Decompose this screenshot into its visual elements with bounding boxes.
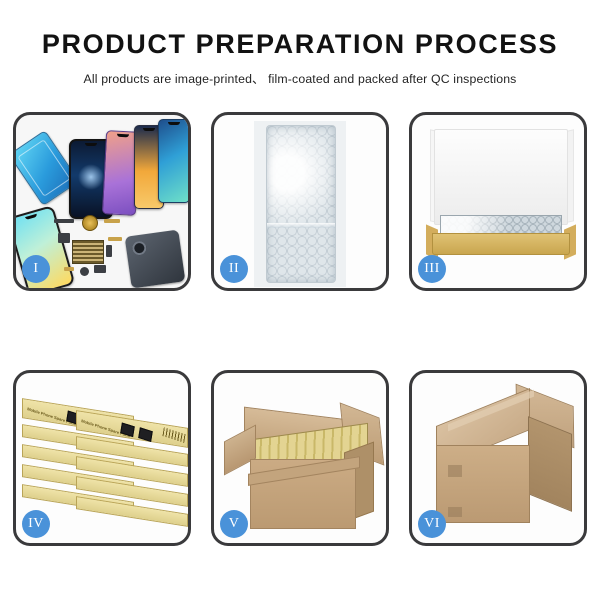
small-part-5 — [94, 265, 106, 273]
small-part-1 — [54, 219, 74, 223]
step-badge-1: I — [22, 255, 50, 283]
phone-back-housing — [125, 229, 186, 288]
step-badge-6: VI — [418, 510, 446, 538]
small-part-3 — [106, 245, 112, 257]
flex-cable-3 — [64, 267, 74, 271]
page-title: PRODUCT PREPARATION PROCESS — [0, 30, 600, 60]
step-badge-3: III — [418, 255, 446, 283]
step-badge-2: II — [220, 255, 248, 283]
mailer-front-panel — [432, 233, 570, 255]
process-steps-grid: I II III — [13, 112, 587, 546]
small-part-2 — [58, 233, 70, 243]
flex-cable-1 — [104, 219, 120, 223]
flex-cable-2 — [108, 237, 122, 241]
small-part-4 — [80, 267, 89, 276]
header: PRODUCT PREPARATION PROCESS All products… — [0, 0, 600, 87]
step-panel-5: V — [211, 370, 389, 546]
hand-hole-upper — [448, 465, 462, 477]
step-panel-2: II — [211, 112, 389, 291]
carton-side-panel — [528, 416, 572, 512]
mailer-back-panel — [434, 129, 568, 225]
page-subtitle: All products are image-printed、 film-coa… — [0, 69, 600, 87]
step-panel-4: Mobile Phone Spare Parts Mobile Phone Sp… — [13, 370, 191, 546]
step-panel-6: VI — [409, 370, 587, 546]
step-panel-3: III — [409, 112, 587, 291]
teal-gradient-phone — [158, 119, 188, 203]
product-preparation-infographic: PRODUCT PREPARATION PROCESS All products… — [0, 0, 600, 600]
step-badge-5: V — [220, 510, 248, 538]
step-panel-1: I — [13, 112, 191, 291]
hand-hole-lower — [448, 507, 462, 517]
step-badge-4: IV — [22, 510, 50, 538]
copper-coil-part — [82, 215, 98, 231]
bubble-wrap-sleeve — [266, 125, 336, 283]
ic-chip-array — [72, 240, 104, 264]
